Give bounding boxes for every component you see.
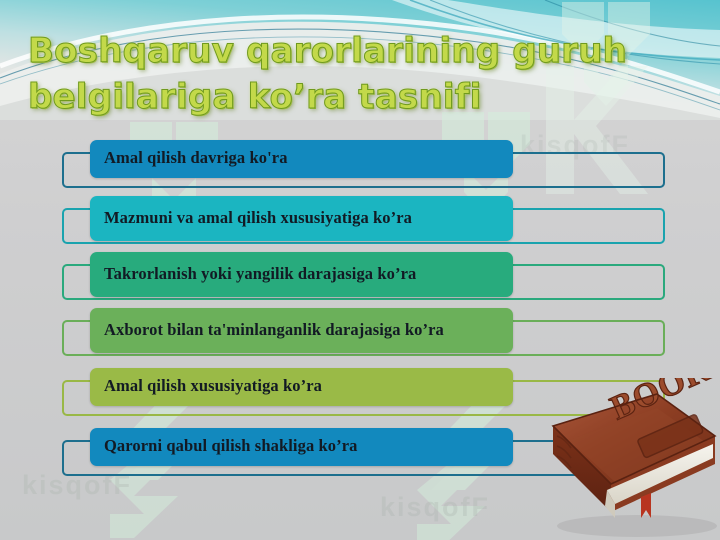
- list-item-bar[interactable]: Qarorni qabul qilish shakliga ko’ra: [90, 428, 513, 466]
- list-item-label: Mazmuni va amal qilish xususiyatiga ko’r…: [104, 208, 412, 228]
- list-item-bar[interactable]: Amal qilish xususiyatiga ko’ra: [90, 368, 513, 406]
- list-item-label: Qarorni qabul qilish shakliga ko’ra: [104, 436, 358, 456]
- list-item-label: Amal qilish xususiyatiga ko’ra: [104, 376, 322, 396]
- list-item-label: Takrorlanish yoki yangilik darajasiga ko…: [104, 264, 416, 284]
- slide-canvas: kisqofF kisqofF kisqofF Boshqaruv qarorl…: [0, 0, 720, 540]
- list-item-bar[interactable]: Amal qilish davriga ko'ra: [90, 140, 513, 178]
- list-item-bar[interactable]: Mazmuni va amal qilish xususiyatiga ko’r…: [90, 196, 513, 241]
- list-item-label: Axborot bilan ta'minlanganlik darajasiga…: [104, 320, 444, 340]
- list-item-bar[interactable]: Takrorlanish yoki yangilik darajasiga ko…: [90, 252, 513, 297]
- list-item-label: Amal qilish davriga ko'ra: [104, 148, 288, 168]
- book-illustration: BOOK: [545, 378, 720, 540]
- list-item-bar[interactable]: Axborot bilan ta'minlanganlik darajasiga…: [90, 308, 513, 353]
